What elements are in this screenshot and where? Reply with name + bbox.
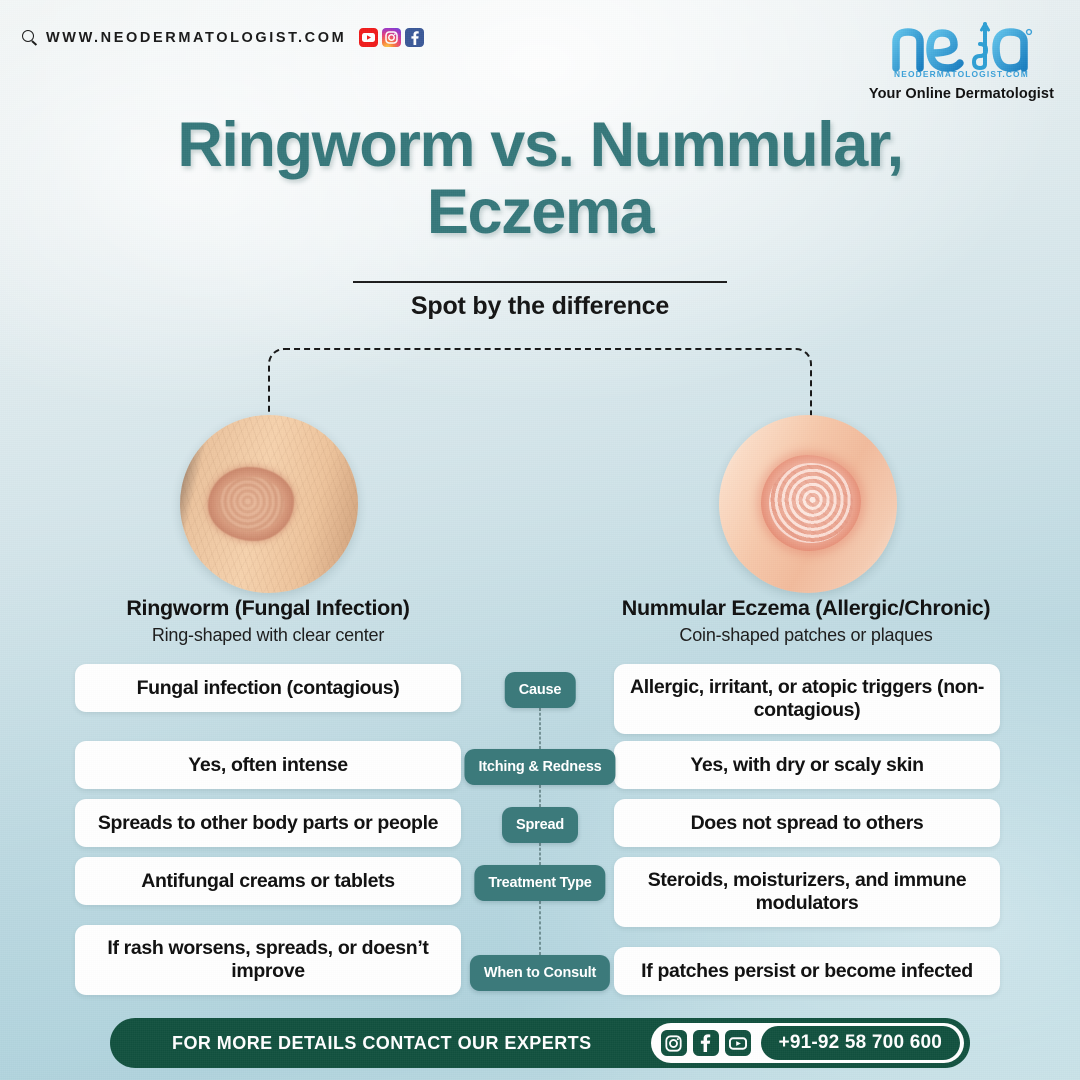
- column-title: Ringworm (Fungal Infection): [28, 596, 508, 621]
- footer-cta-text: FOR MORE DETAILS CONTACT OUR EXPERTS: [172, 1033, 592, 1054]
- column-subtitle: Ring-shaped with clear center: [28, 625, 508, 646]
- facebook-icon[interactable]: [405, 28, 424, 47]
- chip-connector-dashed-line: [540, 901, 541, 955]
- row-value-right: Allergic, irritant, or atopic triggers (…: [614, 664, 1000, 734]
- row-value-left: Fungal infection (contagious): [75, 664, 461, 712]
- chip-connector-dashed-line: [540, 843, 541, 865]
- column-header-nummular-eczema: Nummular Eczema (Allergic/Chronic) Coin-…: [566, 596, 1046, 646]
- youtube-icon[interactable]: [359, 28, 378, 47]
- footer-contact-group: +91-92 58 700 600: [651, 1023, 964, 1063]
- chip-connector-dashed-line: [540, 785, 541, 807]
- header-bar: WWW.NEODERMATOLOGIST.COM: [22, 28, 424, 47]
- search-icon: [22, 30, 37, 45]
- header-social-links: [359, 28, 424, 47]
- page-title: Ringworm vs. Nummular, Eczema: [0, 112, 1080, 246]
- infographic-canvas: WWW.NEODERMATOLOGIST.COM: [0, 0, 1080, 1080]
- row-label-chip: When to Consult: [470, 955, 610, 991]
- contact-phone-number[interactable]: +91-92 58 700 600: [761, 1026, 960, 1060]
- row-value-right: Does not spread to others: [614, 799, 1000, 847]
- page-title-line-2: Eczema: [60, 179, 1020, 246]
- row-value-left: If rash worsens, spreads, or doesn’t imp…: [75, 925, 461, 995]
- nummular-eczema-skin-photo: [719, 415, 897, 593]
- instagram-icon[interactable]: [382, 28, 401, 47]
- row-value-right: If patches persist or become infected: [614, 947, 1000, 995]
- neo-logo-mark: [888, 18, 1034, 72]
- brand-logo: NEODERMATOLOGIST.COM Your Online Dermato…: [869, 18, 1054, 102]
- facebook-icon[interactable]: [693, 1030, 719, 1056]
- row-value-left: Spreads to other body parts or people: [75, 799, 461, 847]
- row-value-left: Yes, often intense: [75, 741, 461, 789]
- youtube-icon[interactable]: [725, 1030, 751, 1056]
- logo-tagline: Your Online Dermatologist: [869, 86, 1054, 102]
- column-subtitle: Coin-shaped patches or plaques: [566, 625, 1046, 646]
- website-url: WWW.NEODERMATOLOGIST.COM: [46, 30, 346, 46]
- row-label-chip: Treatment Type: [474, 865, 605, 901]
- page-subtitle: Spot by the difference: [0, 292, 1080, 321]
- row-value-right: Steroids, moisturizers, and immune modul…: [614, 857, 1000, 927]
- row-label-chip: Spread: [502, 807, 578, 843]
- column-header-ringworm: Ringworm (Fungal Infection) Ring-shaped …: [28, 596, 508, 646]
- footer-cta-bar: FOR MORE DETAILS CONTACT OUR EXPERTS +91…: [110, 1018, 970, 1068]
- ringworm-skin-photo: [180, 415, 358, 593]
- row-value-left: Antifungal creams or tablets: [75, 857, 461, 905]
- chip-connector-dashed-line: [540, 708, 541, 749]
- title-divider: [353, 281, 727, 283]
- row-label-chip: Itching & Redness: [464, 749, 615, 785]
- row-value-right: Yes, with dry or scaly skin: [614, 741, 1000, 789]
- row-label-chip: Cause: [505, 672, 576, 708]
- page-title-line-1: Ringworm vs. Nummular,: [60, 112, 1020, 179]
- instagram-icon[interactable]: [661, 1030, 687, 1056]
- column-title: Nummular Eczema (Allergic/Chronic): [566, 596, 1046, 621]
